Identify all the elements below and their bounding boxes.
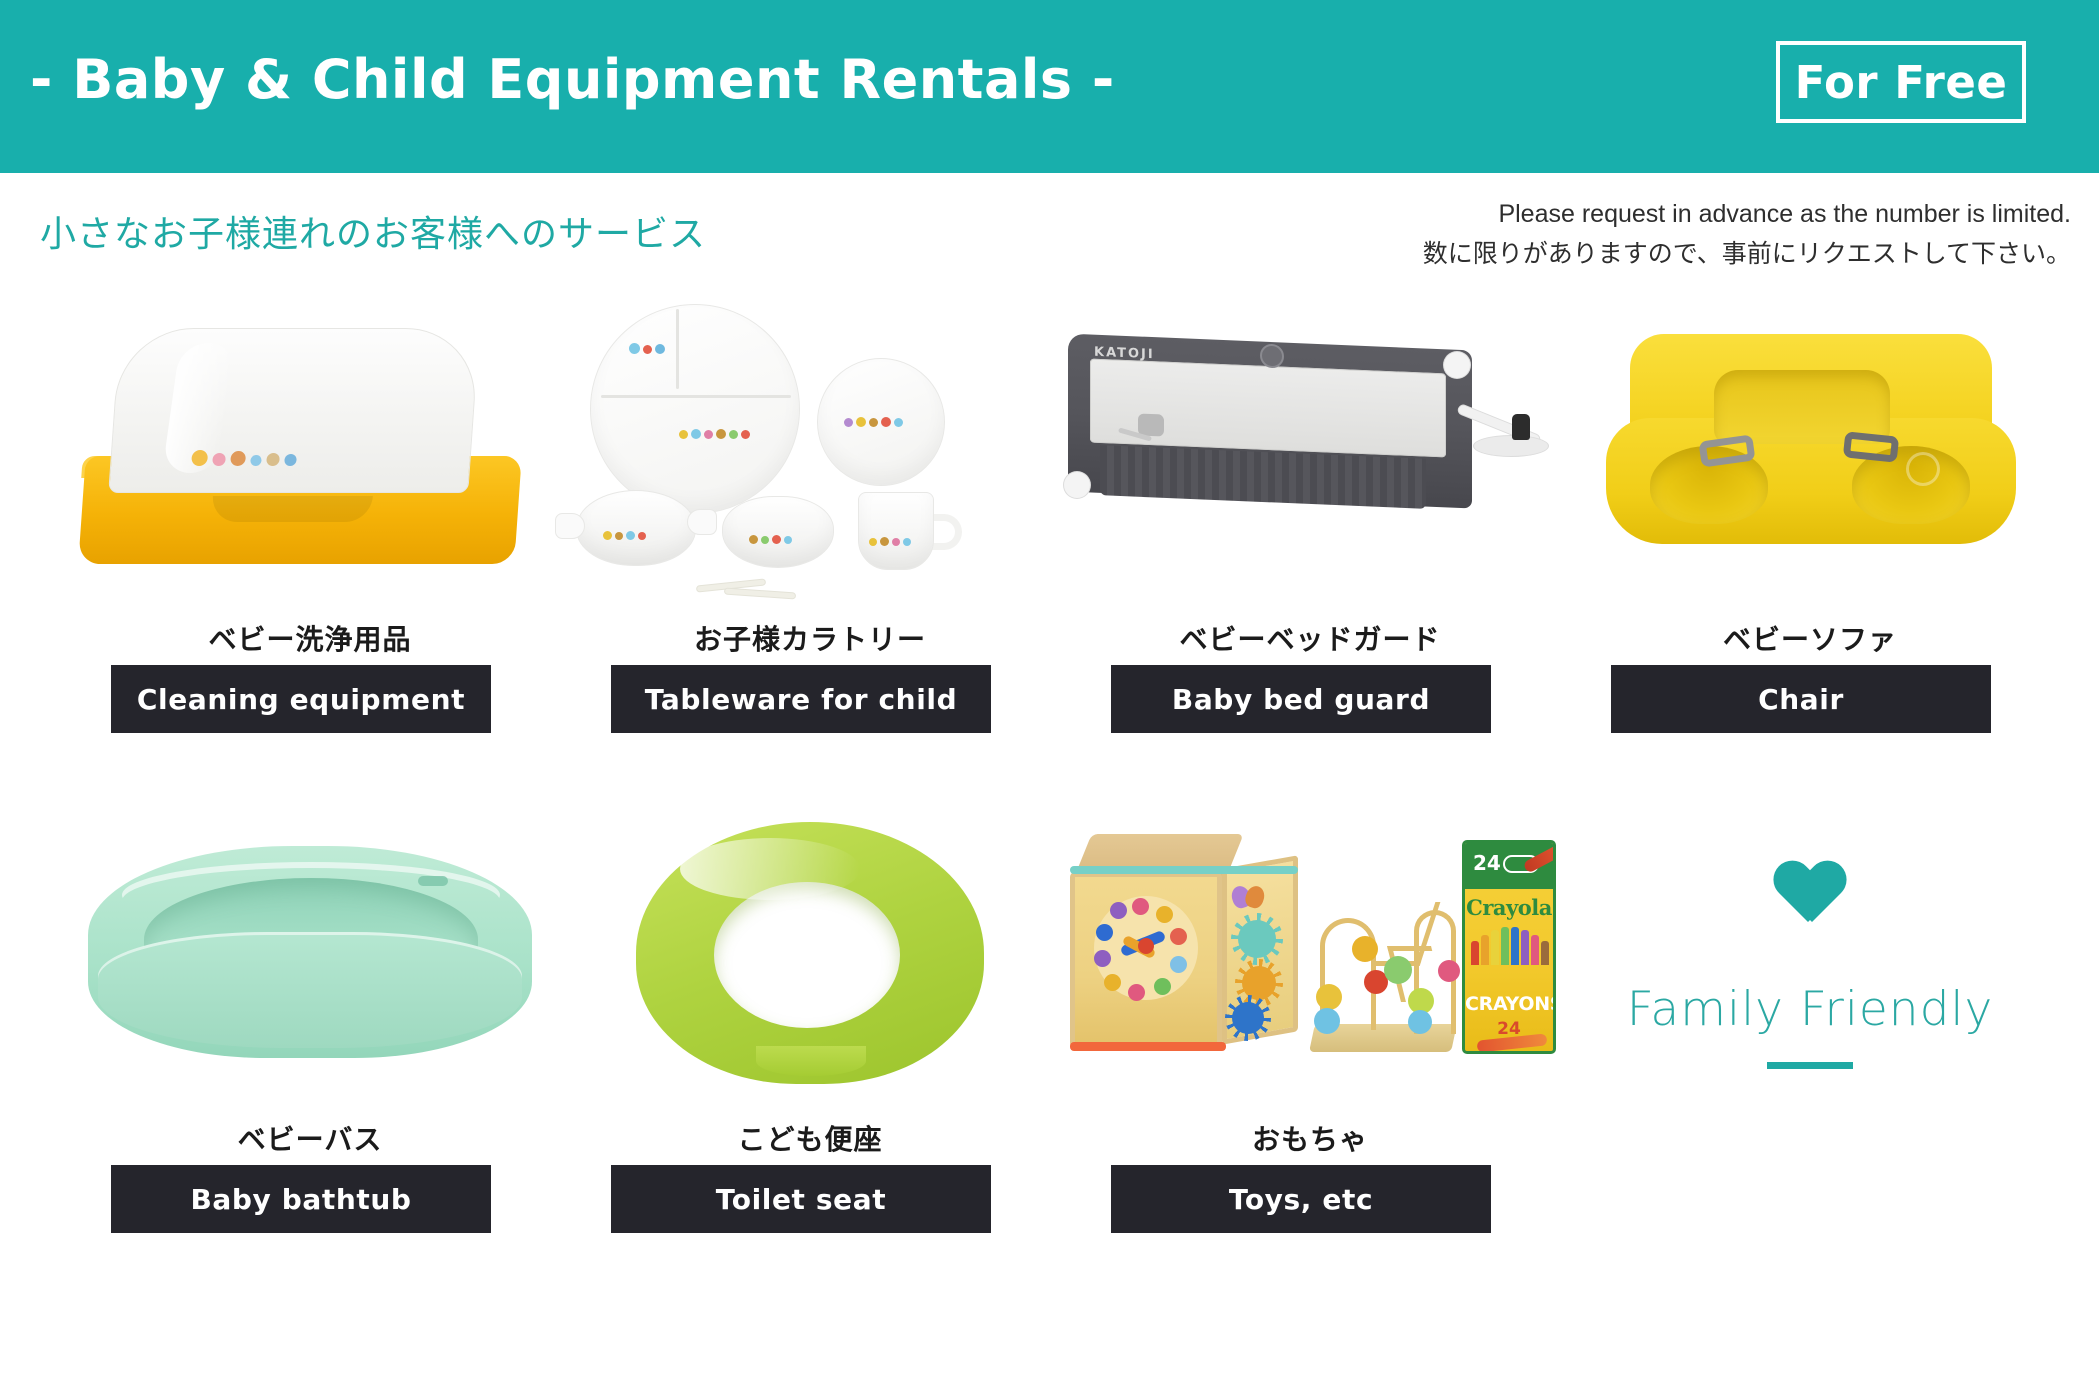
equipment-grid: ベビー洗浄用品 Cleaning equipment [0, 300, 2099, 1300]
availability-notice: Please request in advance as the number … [1423, 198, 2071, 272]
equipment-label-bar: Toys, etc [1111, 1165, 1491, 1233]
equipment-card-tableware-for-child[interactable]: お子様カラトリー Tableware for child [560, 300, 1060, 800]
equipment-label-bar: Chair [1611, 665, 1991, 733]
equipment-card-chair[interactable]: ベビーソファ Chair [1560, 300, 2060, 800]
baby-floor-chair-icon [1560, 300, 2060, 605]
equipment-card-toys[interactable]: 24 Crayola [1060, 800, 1560, 1300]
equipment-card-cleaning-equipment[interactable]: ベビー洗浄用品 Cleaning equipment [60, 300, 560, 800]
crayons-word: CRAYONS [1465, 993, 1553, 1015]
equipment-label-bar: Cleaning equipment [111, 665, 491, 733]
equipment-label-ja: こども便座 [560, 1118, 1060, 1158]
equipment-label-en: Baby bathtub [190, 1183, 411, 1216]
equipment-card-baby-bathtub[interactable]: ベビーバス Baby bathtub [60, 800, 560, 1300]
baby-bed-guard-icon: KATOJI [1060, 300, 1560, 605]
family-friendly-label: Family Friendly [1560, 982, 2060, 1037]
page-title: - Baby & Child Equipment Rentals - [30, 48, 1115, 111]
equipment-label-ja: ベビー洗浄用品 [60, 618, 560, 658]
section-subtitle: 小さなお子様連れのお客様へのサービス [40, 205, 706, 257]
child-tableware-set-icon [560, 300, 1060, 605]
baby-equipment-rental-page: - Baby & Child Equipment Rentals - For F… [0, 0, 2099, 1399]
equipment-label-bar: Tableware for child [611, 665, 991, 733]
equipment-label-en: Toys, etc [1229, 1183, 1373, 1216]
equipment-card-baby-bed-guard[interactable]: KATOJI ベビーベッドガード Baby bed guard [1060, 300, 1560, 800]
availability-notice-en: Please request in advance as the number … [1423, 198, 2071, 232]
child-toilet-seat-icon [560, 800, 1060, 1105]
equipment-row-1: ベビー洗浄用品 Cleaning equipment [0, 300, 2099, 800]
heart-icon [1774, 862, 1846, 928]
crayola-brand: Crayola [1465, 895, 1553, 920]
equipment-label-ja: おもちゃ [1060, 1118, 1560, 1158]
equipment-label-en: Chair [1758, 683, 1844, 716]
equipment-label-ja: ベビーベッドガード [1060, 618, 1560, 658]
equipment-label-bar: Baby bathtub [111, 1165, 491, 1233]
for-free-badge: For Free [1776, 41, 2026, 123]
equipment-label-en: Tableware for child [645, 683, 957, 716]
toys-group-icon: 24 Crayola [1060, 800, 1560, 1105]
equipment-row-2: ベビーバス Baby bathtub こども便座 Toilet [0, 800, 2099, 1300]
baby-cleaning-case-icon [60, 300, 560, 605]
availability-notice-ja: 数に限りがありますので、事前にリクエストして下さい。 [1423, 236, 2071, 272]
family-friendly-block: Family Friendly [1560, 800, 2060, 1300]
equipment-label-ja: お子様カラトリー [560, 618, 1060, 658]
equipment-label-bar: Toilet seat [611, 1165, 991, 1233]
bed-guard-brand: KATOJI [1094, 345, 1155, 363]
equipment-card-toilet-seat[interactable]: こども便座 Toilet seat [560, 800, 1060, 1300]
family-friendly-divider [1767, 1062, 1853, 1069]
equipment-label-en: Toilet seat [716, 1183, 886, 1216]
equipment-label-ja: ベビーバス [60, 1118, 560, 1158]
for-free-badge-label: For Free [1795, 56, 2008, 109]
equipment-label-en: Cleaning equipment [137, 683, 465, 716]
crayon-count-top: 24 [1473, 851, 1501, 875]
equipment-label-ja: ベビーソファ [1560, 618, 2060, 658]
inflatable-baby-bathtub-icon [60, 800, 560, 1105]
equipment-label-en: Baby bed guard [1172, 683, 1430, 716]
page-header: - Baby & Child Equipment Rentals - For F… [0, 0, 2099, 173]
equipment-label-bar: Baby bed guard [1111, 665, 1491, 733]
